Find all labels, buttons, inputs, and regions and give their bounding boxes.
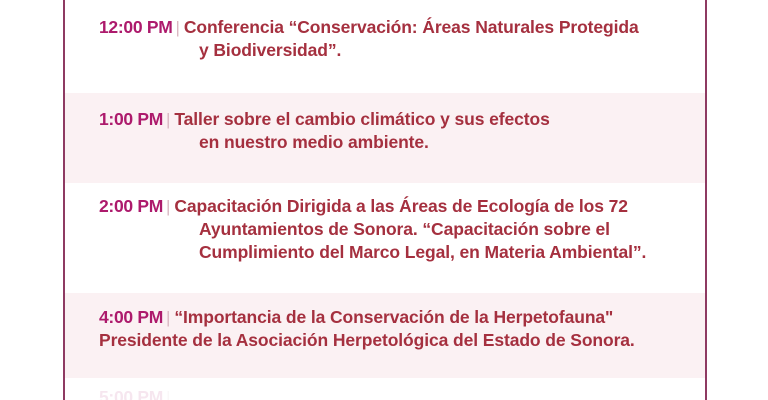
schedule-separator-icon: | [163, 308, 174, 327]
schedule-description-line: Capacitación Dirigida a las Áreas de Eco… [174, 196, 628, 216]
schedule-row: 12:00 PM|Conferencia “Conservación: Área… [65, 0, 705, 93]
schedule-entry-line: 1:00 PM|Taller sobre el cambio climático… [99, 108, 691, 131]
schedule-entry: 1:00 PM|Taller sobre el cambio climático… [99, 108, 691, 154]
schedule-entry-line: 12:00 PM|Conferencia “Conservación: Área… [99, 16, 691, 39]
schedule-separator-icon: | [163, 388, 174, 400]
schedule-separator-icon: | [163, 197, 174, 216]
schedule-row-content: 4:00 PM|“Importancia de la Conservación … [65, 293, 705, 359]
schedule-time: 1:00 PM [99, 109, 163, 129]
schedule-description-line: Cumplimiento del Marco Legal, en Materia… [199, 242, 646, 262]
schedule-description-line: Ayuntamientos de Sonora. “Capacitación s… [199, 219, 610, 239]
schedule-row-clipped: 5:00 PM| [65, 378, 705, 400]
schedule-entry-line: en nuestro medio ambiente. [199, 131, 691, 154]
schedule-entry-line: Presidente de la Asociación Herpetológic… [99, 329, 691, 352]
schedule-row-content: 5:00 PM| [65, 378, 705, 400]
schedule-entry-line: 5:00 PM| [99, 386, 691, 400]
schedule-description-line: Conferencia “Conservación: Áreas Natural… [184, 17, 639, 37]
schedule-time: 2:00 PM [99, 196, 163, 216]
schedule-row: 4:00 PM|“Importancia de la Conservación … [65, 293, 705, 378]
schedule-entry-line: 4:00 PM|“Importancia de la Conservación … [99, 306, 691, 329]
schedule-row-content: 2:00 PM|Capacitación Dirigida a las Área… [65, 183, 705, 271]
schedule-row-content: 1:00 PM|Taller sobre el cambio climático… [65, 93, 705, 161]
schedule-row-content: 12:00 PM|Conferencia “Conservación: Área… [65, 0, 705, 69]
schedule-entry: 5:00 PM| [99, 386, 691, 400]
schedule-time: 12:00 PM [99, 17, 172, 37]
schedule-panel: 12:00 PM|Conferencia “Conservación: Área… [63, 0, 707, 400]
schedule-time: 5:00 PM [99, 387, 163, 400]
schedule-rows: 12:00 PM|Conferencia “Conservación: Área… [65, 0, 705, 400]
schedule-separator-icon: | [172, 18, 183, 37]
schedule-entry-line: Cumplimiento del Marco Legal, en Materia… [199, 241, 691, 264]
schedule-time: 4:00 PM [99, 307, 163, 327]
schedule-entry-line: Ayuntamientos de Sonora. “Capacitación s… [199, 218, 691, 241]
schedule-entry: 12:00 PM|Conferencia “Conservación: Área… [99, 16, 691, 62]
schedule-entry-line: 2:00 PM|Capacitación Dirigida a las Área… [99, 195, 691, 218]
schedule-entry: 4:00 PM|“Importancia de la Conservación … [99, 306, 691, 352]
schedule-description-line: en nuestro medio ambiente. [199, 132, 429, 152]
schedule-poster: 12:00 PM|Conferencia “Conservación: Área… [0, 0, 768, 400]
schedule-row: 1:00 PM|Taller sobre el cambio climático… [65, 93, 705, 183]
schedule-entry: 2:00 PM|Capacitación Dirigida a las Área… [99, 195, 691, 264]
schedule-description-line: Presidente de la Asociación Herpetológic… [99, 330, 635, 350]
schedule-description-line: “Importancia de la Conservación de la He… [174, 307, 613, 327]
schedule-separator-icon: | [163, 110, 174, 129]
schedule-entry-line: y Biodiversidad”. [199, 39, 691, 62]
schedule-description-line: y Biodiversidad”. [199, 40, 341, 60]
schedule-row: 2:00 PM|Capacitación Dirigida a las Área… [65, 183, 705, 293]
schedule-description-line: Taller sobre el cambio climático y sus e… [174, 109, 549, 129]
